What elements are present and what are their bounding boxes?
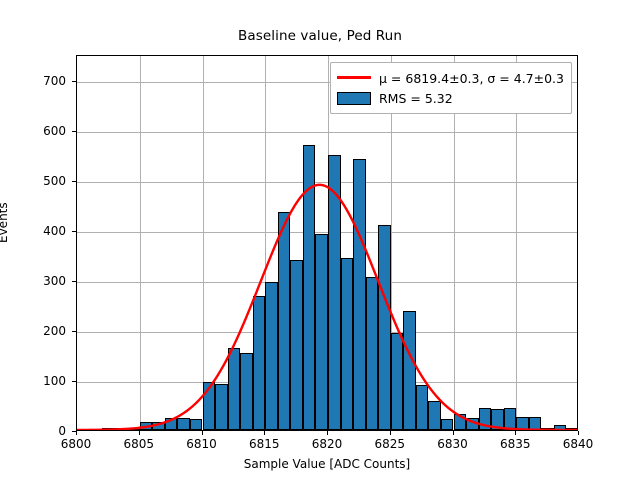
x-tick-label: 6815 — [249, 437, 280, 451]
y-tick-label: 0 — [58, 424, 66, 438]
y-tick-mark — [72, 281, 76, 282]
y-axis-label: Events — [0, 202, 10, 243]
y-tick-mark — [72, 431, 76, 432]
y-tick-label: 600 — [43, 124, 66, 138]
x-tick-mark — [578, 431, 579, 435]
x-tick-mark — [76, 431, 77, 435]
y-tick-mark — [72, 131, 76, 132]
y-tick-mark — [72, 81, 76, 82]
legend-line-swatch — [337, 71, 371, 85]
y-tick-label: 500 — [43, 174, 66, 188]
x-tick-label: 6820 — [312, 437, 343, 451]
x-tick-mark — [453, 431, 454, 435]
x-tick-mark — [264, 431, 265, 435]
chart-figure: Baseline value, Ped Run 6800680568106815… — [0, 0, 640, 480]
x-tick-label: 6805 — [123, 437, 154, 451]
legend-item-rms: RMS = 5.32 — [337, 88, 564, 108]
chart-legend: μ = 6819.4±0.3, σ = 4.7±0.3 RMS = 5.32 — [330, 62, 572, 114]
y-tick-label: 700 — [43, 74, 66, 88]
x-tick-label: 6825 — [374, 437, 405, 451]
x-tick-mark — [202, 431, 203, 435]
y-tick-label: 100 — [43, 374, 66, 388]
x-tick-label: 6800 — [61, 437, 92, 451]
legend-label-fit: μ = 6819.4±0.3, σ = 4.7±0.3 — [379, 71, 564, 86]
y-tick-mark — [72, 381, 76, 382]
y-tick-label: 300 — [43, 274, 66, 288]
x-tick-label: 6830 — [437, 437, 468, 451]
x-tick-label: 6810 — [186, 437, 217, 451]
y-tick-mark — [72, 181, 76, 182]
x-tick-label: 6835 — [500, 437, 531, 451]
legend-label-rms: RMS = 5.32 — [379, 91, 453, 106]
x-tick-mark — [327, 431, 328, 435]
y-tick-mark — [72, 231, 76, 232]
legend-item-fit: μ = 6819.4±0.3, σ = 4.7±0.3 — [337, 68, 564, 88]
chart-title: Baseline value, Ped Run — [0, 28, 640, 44]
x-tick-mark — [515, 431, 516, 435]
x-axis-label: Sample Value [ADC Counts] — [76, 457, 578, 471]
legend-patch-swatch — [337, 91, 371, 105]
y-tick-mark — [72, 331, 76, 332]
y-tick-label: 200 — [43, 324, 66, 338]
x-tick-mark — [390, 431, 391, 435]
x-tick-mark — [139, 431, 140, 435]
y-tick-label: 400 — [43, 224, 66, 238]
x-tick-label: 6840 — [563, 437, 594, 451]
